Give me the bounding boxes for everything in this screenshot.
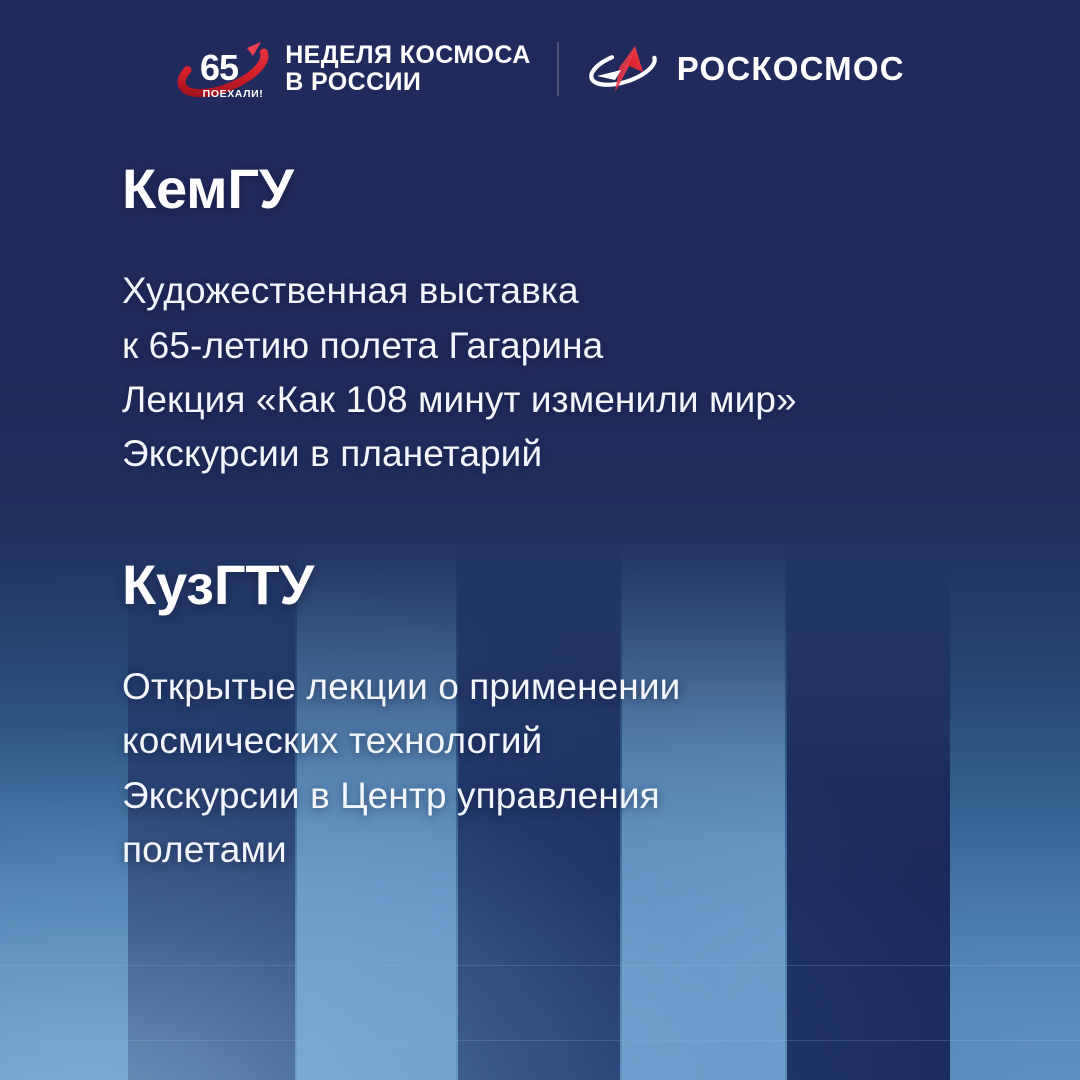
poster-canvas: 65 ПОЕХАЛИ! НЕДЕЛЯ КОСМОСА В РОССИИ [0,0,1080,1080]
block-kemgu-title: КемГУ [122,160,1020,218]
event-title: НЕДЕЛЯ КОСМОСА В РОССИИ [285,42,530,96]
block-kuzgtu-line-4: полетами [122,823,1020,877]
block-kuzgtu-line-3: Экскурсии в Центр управления [122,769,1020,823]
block-kemgu-line-2: к 65-летию полета Гагарина [122,319,1020,373]
block-kemgu-lines: Художественная выставка к 65-летию полет… [122,264,1020,482]
anniversary-logo: 65 ПОЕХАЛИ! НЕДЕЛЯ КОСМОСА В РОССИИ [175,36,530,102]
branding-header: 65 ПОЕХАЛИ! НЕДЕЛЯ КОСМОСА В РОССИИ [0,34,1080,104]
roscosmos-wordmark: РОСКОСМОС [677,50,905,88]
roscosmos-arrow-icon [585,42,661,96]
header-divider [557,42,559,96]
block-kemgu: КемГУ Художественная выставка к 65-летию… [122,160,1020,482]
block-kuzgtu: КузГТУ Открытые лекции о применении косм… [122,556,1020,878]
svg-text:65: 65 [200,47,239,88]
block-kuzgtu-lines: Открытые лекции о применении космических… [122,660,1020,878]
svg-text:ПОЕХАЛИ!: ПОЕХАЛИ! [203,88,264,100]
block-kemgu-line-4: Экскурсии в планетарий [122,427,1020,481]
roscosmos-logo[interactable]: РОСКОСМОС [585,42,905,96]
content-area: КемГУ Художественная выставка к 65-летию… [122,160,1020,877]
block-kemgu-line-1: Художественная выставка [122,264,1020,318]
anniversary-65-orbit-icon: 65 ПОЕХАЛИ! [175,36,271,102]
block-kuzgtu-line-1: Открытые лекции о применении [122,660,1020,714]
block-kemgu-line-3: Лекция «Как 108 минут изменили мир» [122,373,1020,427]
block-kuzgtu-line-2: космических технологий [122,714,1020,768]
block-kuzgtu-title: КузГТУ [122,556,1020,614]
